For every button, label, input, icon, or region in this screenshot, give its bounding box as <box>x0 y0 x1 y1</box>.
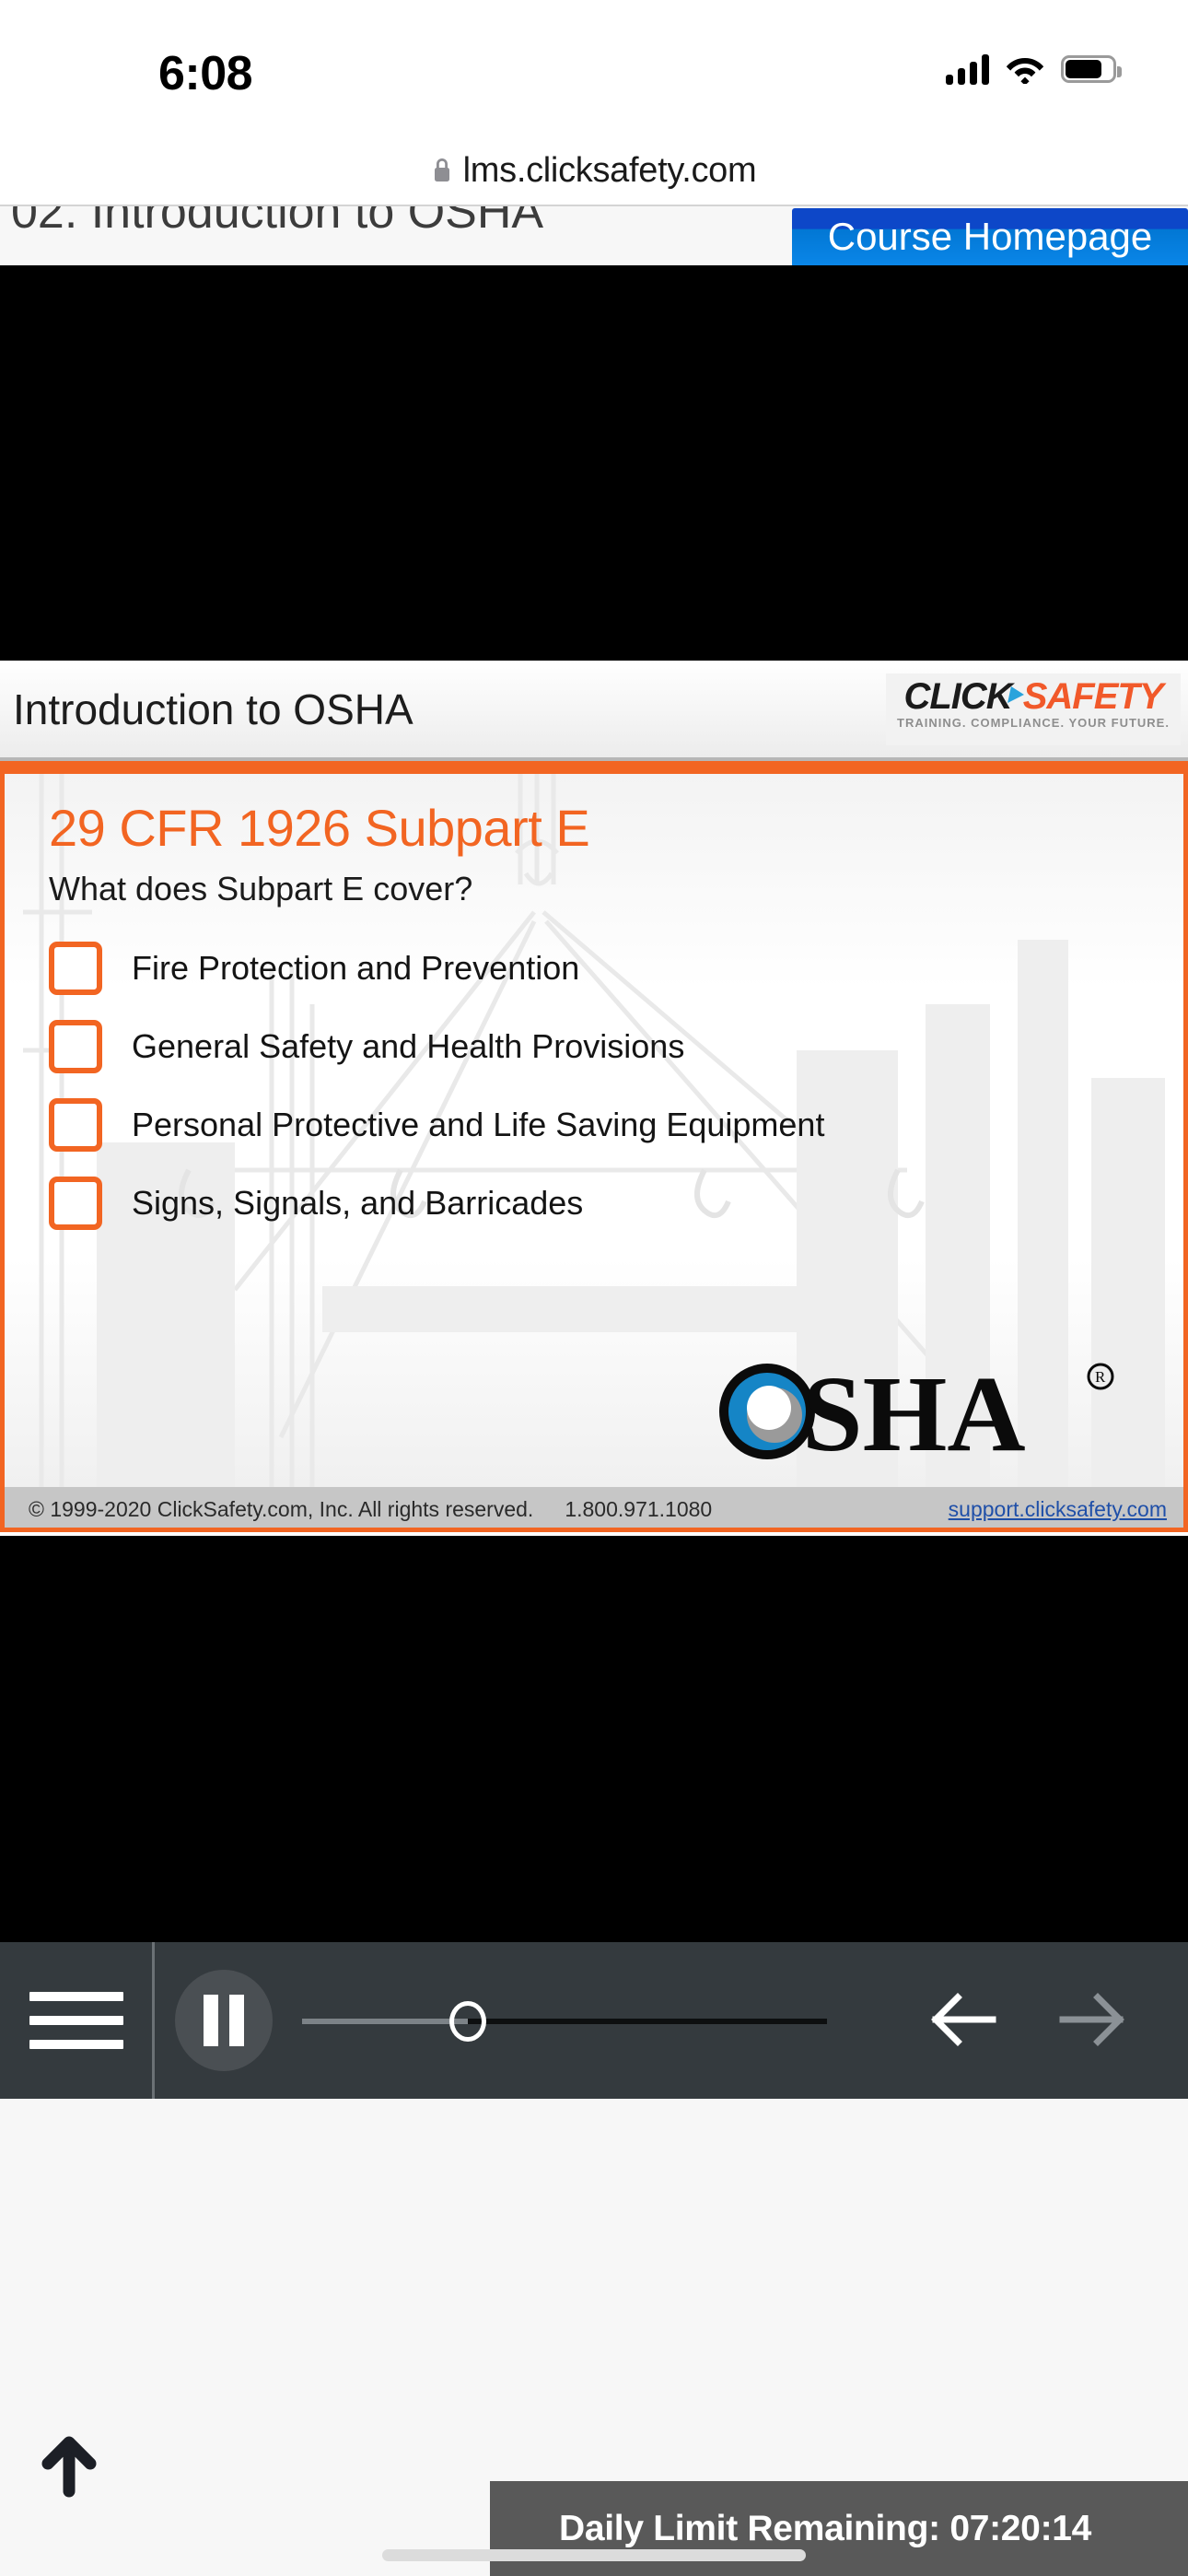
slide-content: 29 CFR 1926 Subpart E What does Subpart … <box>0 774 1188 1487</box>
player-control-bar <box>0 1942 1188 2099</box>
checkbox-icon[interactable] <box>49 1177 102 1230</box>
svg-text:R: R <box>1095 1368 1106 1386</box>
osha-logo: SHA R <box>714 1354 1137 1465</box>
logo-tagline: TRAINING. COMPLIANCE. YOUR FUTURE. <box>886 716 1181 730</box>
previous-slide-button[interactable] <box>930 1990 998 2049</box>
option-label: General Safety and Health Provisions <box>132 1027 684 1066</box>
wifi-icon <box>1006 54 1044 84</box>
battery-icon <box>1061 55 1116 83</box>
status-bar-indicators <box>946 53 1116 85</box>
list-item[interactable]: General Safety and Health Provisions <box>49 1007 1108 1085</box>
list-item[interactable]: Personal Protective and Life Saving Equi… <box>49 1085 1108 1164</box>
lock-icon <box>432 158 452 183</box>
cellular-bars-icon <box>946 53 989 85</box>
logo-safety-text: SAFETY <box>1023 676 1163 717</box>
progress-remaining <box>468 2019 827 2024</box>
slide-header-title: Introduction to OSHA <box>13 685 413 734</box>
slide-accent-bar <box>0 761 1188 774</box>
browser-address-bar[interactable]: lms.clicksafety.com <box>0 138 1188 203</box>
slide-heading: 29 CFR 1926 Subpart E <box>49 798 589 858</box>
svg-text:SHA: SHA <box>802 1354 1026 1465</box>
daily-limit-text: Daily Limit Remaining: 07:20:14 <box>559 2509 1091 2549</box>
status-bar-clock: 6:08 <box>158 46 252 101</box>
slide-footer: © 1999-2020 ClickSafety.com, Inc. All ri… <box>0 1487 1188 1532</box>
play-pause-button[interactable] <box>175 1970 273 2071</box>
ios-status-bar: 6:08 <box>0 0 1188 138</box>
pause-icon <box>204 1995 218 2046</box>
next-slide-button[interactable] <box>1057 1990 1125 2049</box>
logo-click-text: CLICK <box>903 676 1011 717</box>
checkbox-icon[interactable] <box>49 1098 102 1152</box>
play-triangle-icon <box>1007 686 1026 703</box>
answer-options-list: Fire Protection and Prevention General S… <box>49 929 1108 1242</box>
player-menu-button[interactable] <box>0 1942 155 2099</box>
slide-header: Introduction to OSHA CLICKSAFETY TRAININ… <box>0 661 1188 761</box>
pause-icon-bar2 <box>229 1995 244 2046</box>
phone-screen: 6:08 lms.clicksafety.com 02. Introductio… <box>0 0 1188 2576</box>
slide-subheading: What does Subpart E cover? <box>49 870 472 908</box>
support-link[interactable]: support.clicksafety.com <box>949 1497 1167 1522</box>
option-label: Personal Protective and Life Saving Equi… <box>132 1106 824 1144</box>
copyright-text: © 1999-2020 ClickSafety.com, Inc. All ri… <box>29 1497 533 1521</box>
option-label: Signs, Signals, and Barricades <box>132 1184 583 1223</box>
footer-copyright: © 1999-2020 ClickSafety.com, Inc. All ri… <box>29 1497 712 1522</box>
option-label: Fire Protection and Prevention <box>132 949 579 988</box>
hamburger-menu-icon <box>29 1992 123 2049</box>
list-item[interactable]: Signs, Signals, and Barricades <box>49 1164 1108 1242</box>
checkbox-icon[interactable] <box>49 1020 102 1073</box>
checkbox-icon[interactable] <box>49 942 102 995</box>
course-homepage-button[interactable]: Course Homepage <box>792 208 1188 265</box>
progress-played <box>302 2019 468 2024</box>
support-phone: 1.800.971.1080 <box>565 1497 712 1521</box>
arrow-up-icon <box>40 2434 99 2499</box>
progress-handle[interactable] <box>449 2001 486 2042</box>
scroll-to-top-button[interactable] <box>0 2402 138 2531</box>
home-indicator <box>382 2549 806 2561</box>
progress-slider[interactable] <box>302 2019 827 2024</box>
daily-limit-banner: Daily Limit Remaining: 07:20:14 <box>490 2481 1188 2576</box>
list-item[interactable]: Fire Protection and Prevention <box>49 929 1108 1007</box>
lms-course-header: 02. Introduction to OSHA Course Homepage <box>0 206 1188 265</box>
clicksafety-logo: CLICKSAFETY TRAINING. COMPLIANCE. YOUR F… <box>886 673 1181 745</box>
course-slide: Introduction to OSHA CLICKSAFETY TRAININ… <box>0 661 1188 1536</box>
course-title: 02. Introduction to OSHA <box>11 206 543 240</box>
url-text: lms.clicksafety.com <box>463 151 757 191</box>
